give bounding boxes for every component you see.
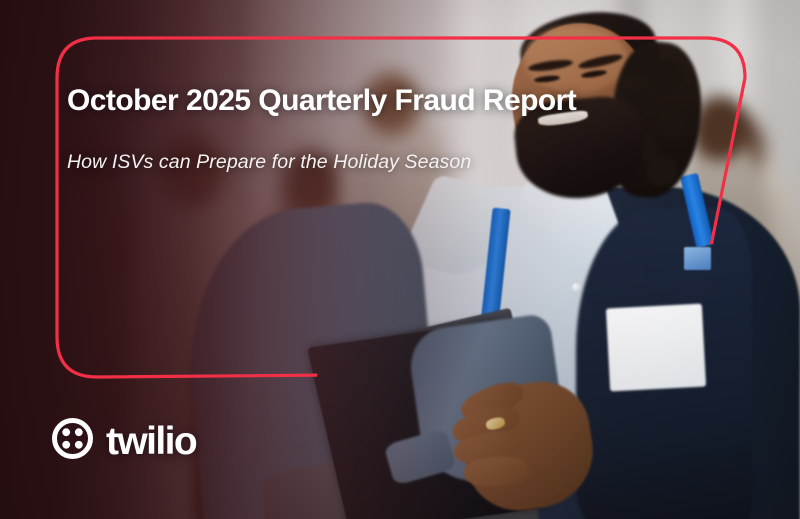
page-subtitle: How ISVs can Prepare for the Holiday Sea… bbox=[67, 151, 471, 174]
fraud-report-banner: October 2025 Quarterly Fraud Report How … bbox=[0, 0, 800, 519]
twilio-dots-circle-icon bbox=[52, 418, 93, 464]
twilio-wordmark: twilio bbox=[106, 422, 196, 461]
page-title: October 2025 Quarterly Fraud Report bbox=[67, 84, 576, 118]
twilio-logo[interactable]: twilio bbox=[52, 418, 196, 464]
